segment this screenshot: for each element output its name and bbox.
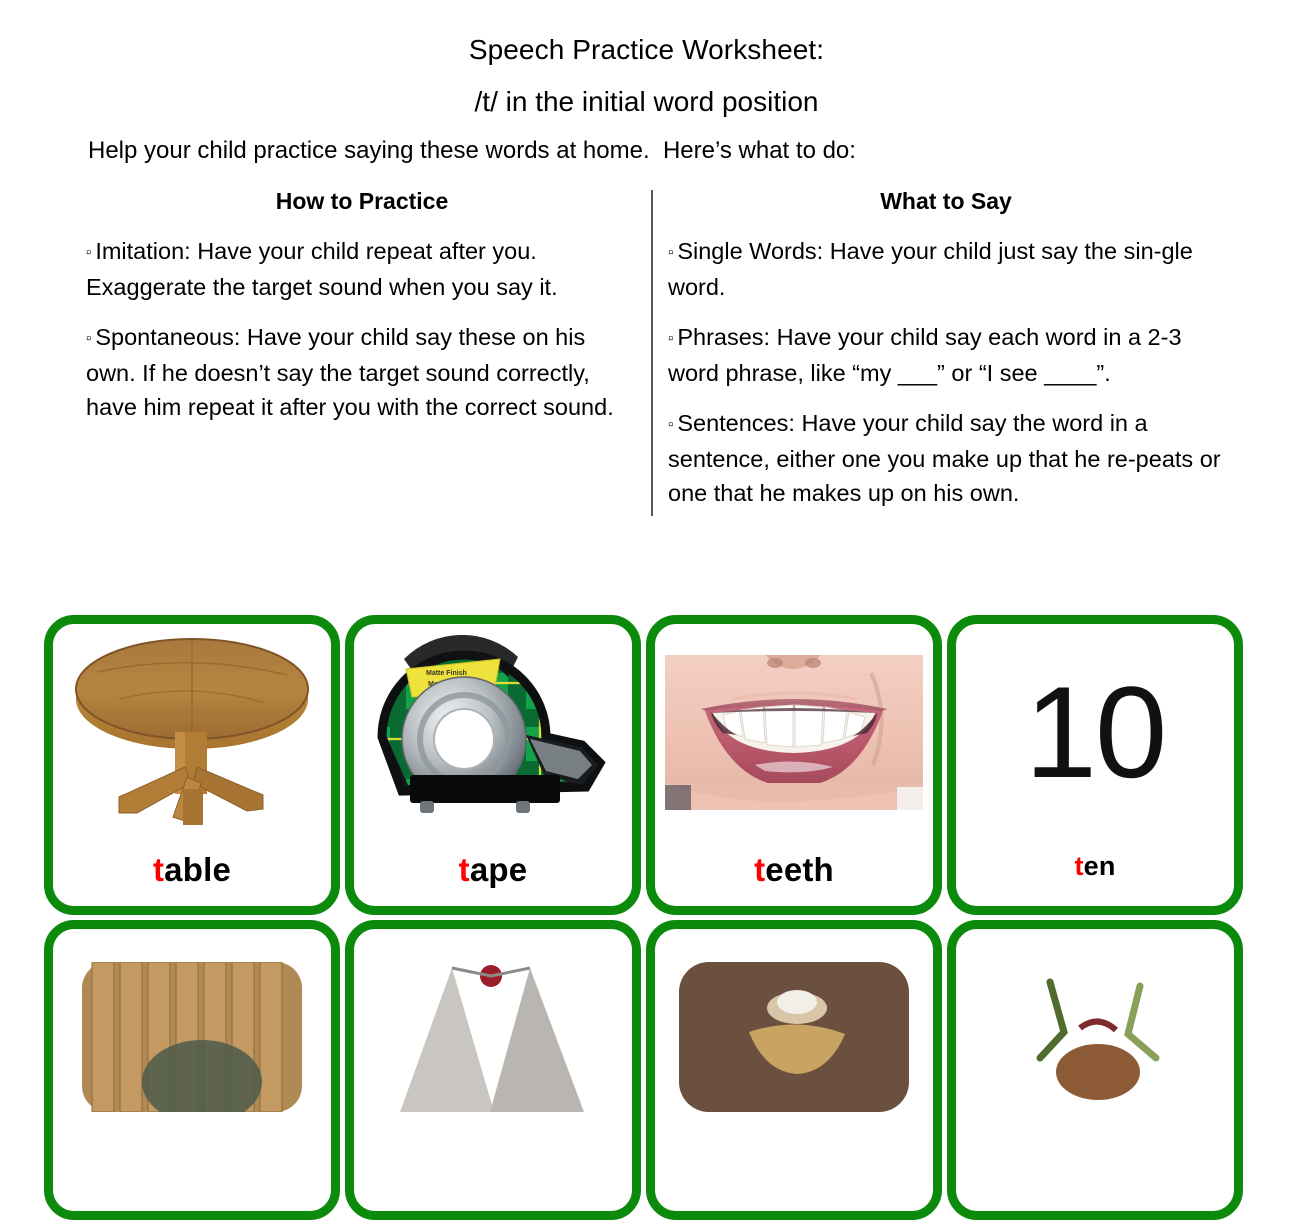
checkbox-square-icon: ▫ — [668, 416, 673, 433]
picture-card-row2-1[interactable] — [44, 920, 340, 1220]
checkbox-square-icon: ▫ — [86, 244, 91, 261]
how-to-practice-bullet-2: ▫Spontaneous: Have your child say these … — [86, 320, 638, 424]
page-title-line-1: Speech Practice Worksheet: — [0, 30, 1293, 70]
wooden-fence-photo — [53, 937, 331, 1137]
smiling-mouth-icon — [665, 655, 923, 810]
tent-icon — [378, 962, 608, 1112]
card-label-rest: en — [1084, 851, 1116, 881]
numeral-10: 10 — [1025, 667, 1166, 797]
card-initial-letter: t — [153, 851, 164, 888]
how-to-practice-bullet-1: ▫Imitation: Have your child repeat after… — [86, 234, 638, 304]
how-to-practice-column: How to Practice ▫Imitation: Have your ch… — [86, 186, 638, 440]
card-label-tape: tape — [354, 852, 632, 888]
toy-icon — [679, 962, 909, 1112]
what-to-say-bullet-3-text: Sentences: Have your child say the word … — [668, 410, 1221, 506]
picture-card-tape[interactable]: Matte Finish Magic™ Tape tape — [345, 615, 641, 915]
card-initial-letter: t — [459, 851, 470, 888]
card-label-teeth: teeth — [655, 852, 933, 888]
how-to-practice-bullet-2-text: Spontaneous: Have your child say these o… — [86, 324, 614, 420]
toy-photo — [655, 937, 933, 1137]
what-to-say-bullet-1-text: Single Words: Have your child just say t… — [668, 238, 1193, 300]
card-label-rest: ape — [470, 851, 527, 888]
card-label-rest: eeth — [765, 851, 834, 888]
picture-card-table[interactable]: table — [44, 615, 340, 915]
instructions-columns: How to Practice ▫Imitation: Have your ch… — [0, 186, 1293, 526]
svg-text:Matte Finish: Matte Finish — [426, 670, 467, 677]
how-to-practice-heading: How to Practice — [86, 186, 638, 216]
card-label-table: table — [53, 852, 331, 888]
what-to-say-bullet-1: ▫Single Words: Have your child just say … — [668, 234, 1224, 304]
numeral-ten-art: 10 — [956, 632, 1234, 832]
checkbox-square-icon: ▫ — [668, 244, 673, 261]
table-photo — [53, 632, 331, 832]
picture-card-row-2 — [44, 920, 1260, 1220]
turkey-photo — [956, 937, 1234, 1137]
card-label-ten: ten — [956, 848, 1234, 884]
how-to-practice-bullet-1-text: Imitation: Have your child repeat after … — [86, 238, 558, 300]
picture-card-grid: table — [44, 615, 1260, 1220]
intro-instruction-text: Help your child practice saying these wo… — [88, 136, 856, 166]
card-initial-letter: t — [1074, 851, 1083, 881]
checkbox-square-icon: ▫ — [668, 330, 673, 347]
round-wooden-table-icon — [67, 637, 317, 827]
what-to-say-heading: What to Say — [668, 186, 1224, 216]
picture-card-row2-2[interactable] — [345, 920, 641, 1220]
teeth-photo — [655, 632, 933, 832]
picture-card-ten[interactable]: 10 ten — [947, 615, 1243, 915]
turkey-icon — [980, 962, 1210, 1112]
picture-card-teeth[interactable]: teeth — [646, 615, 942, 915]
tent-photo — [354, 937, 632, 1137]
what-to-say-bullet-3: ▫Sentences: Have your child say the word… — [668, 406, 1224, 510]
what-to-say-bullet-2-text: Phrases: Have your child say each word i… — [668, 324, 1182, 386]
worksheet-title-block: Speech Practice Worksheet: /t/ in the in… — [0, 30, 1293, 122]
page-title-line-2: /t/ in the initial word position — [0, 82, 1293, 122]
tape-dispenser-photo: Matte Finish Magic™ Tape — [354, 632, 632, 832]
picture-card-row2-3[interactable] — [646, 920, 942, 1220]
picture-card-row-1: table — [44, 615, 1260, 915]
picture-card-row2-4[interactable] — [947, 920, 1243, 1220]
tape-dispenser-icon: Matte Finish Magic™ Tape — [368, 635, 618, 830]
mouth-photo-frame — [665, 655, 923, 810]
card-label-rest: able — [164, 851, 231, 888]
what-to-say-column: What to Say ▫Single Words: Have your chi… — [668, 186, 1224, 526]
checkbox-square-icon: ▫ — [86, 330, 91, 347]
card-initial-letter: t — [754, 851, 765, 888]
wooden-fence-icon — [82, 962, 302, 1112]
what-to-say-bullet-2: ▫Phrases: Have your child say each word … — [668, 320, 1224, 390]
